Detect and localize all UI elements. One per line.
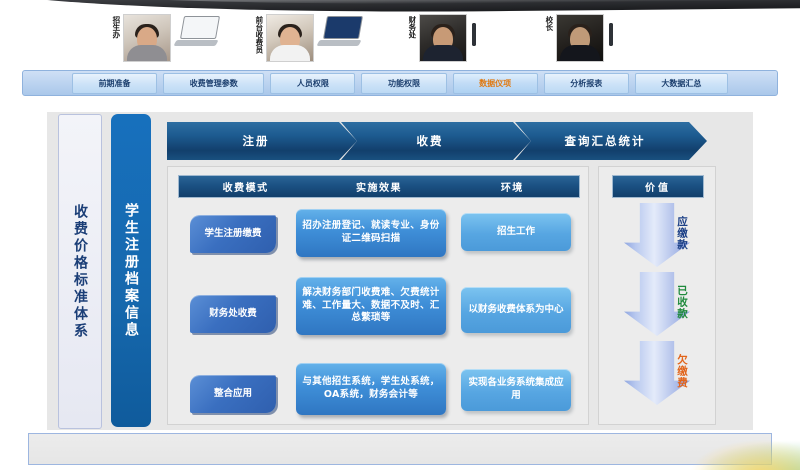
value-arrow-label: 应缴款 <box>624 208 690 258</box>
laptop-base <box>316 40 361 46</box>
laptop-lid <box>180 16 220 39</box>
persona-finance-office: 财务处 <box>408 8 476 64</box>
tablet-icon <box>609 25 613 44</box>
persona-photo <box>419 14 467 62</box>
persona-label: 前台收费员 <box>255 16 263 54</box>
matrix-header-mode: 收费模式 <box>179 179 312 194</box>
tabbar-right-spacer <box>734 74 768 93</box>
tab-preparation[interactable]: 前期准备 <box>72 73 157 94</box>
tablet-body <box>609 23 613 46</box>
matrix-header-environment: 环境 <box>446 179 579 194</box>
matrix-cell-mode[interactable]: 学生注册缴费 <box>190 215 276 253</box>
laptop-icon <box>318 16 360 46</box>
tablet-icon <box>472 25 476 44</box>
value-panel: 价值 应缴款 已收款 欠缴费 <box>598 166 716 425</box>
tab-analysis-reports[interactable]: 分析报表 <box>544 73 629 94</box>
sidebar-student-registration-archive: 学生注册档案信息 <box>111 114 151 427</box>
matrix-cell-environment[interactable]: 以财务收费体系为中心 <box>461 287 571 333</box>
process-step-query-summary[interactable]: 查询汇总统计 <box>515 122 707 160</box>
photo-body <box>127 45 167 61</box>
persona-photo <box>556 14 604 62</box>
tablet-body <box>472 23 476 46</box>
matrix-cell-effect[interactable]: 与其他招生系统，学生处系统，OA系统，财务会计等 <box>296 363 446 415</box>
tab-fee-parameters[interactable]: 收费管理参数 <box>163 73 264 94</box>
matrix-cell-environment[interactable]: 实现各业务系统集成应用 <box>461 369 571 411</box>
persona-principal: 校长 <box>545 8 613 64</box>
matrix-cell-mode[interactable]: 整合应用 <box>190 375 276 413</box>
module-tabbar: 前期准备 收费管理参数 人员权限 功能权限 数据仪项 分析报表 大数据汇总 <box>22 70 778 96</box>
tab-big-data-summary[interactable]: 大数据汇总 <box>635 73 728 94</box>
process-chevron-bar: 注册 收费 查询汇总统计 <box>167 122 712 160</box>
matrix-cell-effect[interactable]: 解决财务部门收费难、欠费统计难、工作量大、数据不及时、汇总繁琐等 <box>296 277 446 335</box>
process-step-label: 收费 <box>417 133 456 149</box>
process-step-register[interactable]: 注册 <box>167 122 357 160</box>
tab-data-dashboard[interactable]: 数据仪项 <box>453 73 538 94</box>
value-arrow-payable[interactable]: 应缴款 <box>624 203 690 267</box>
laptop-lid <box>323 16 363 39</box>
matrix-header-effect: 实施效果 <box>312 179 445 194</box>
photo-body <box>560 45 600 61</box>
matrix-cell-effect[interactable]: 招办注册登记、就读专业、身份证二维码扫描 <box>296 209 446 257</box>
value-arrow-outstanding[interactable]: 欠缴费 <box>624 341 690 405</box>
photo-body <box>423 45 463 61</box>
process-step-charge[interactable]: 收费 <box>341 122 531 160</box>
photo-body <box>270 45 310 61</box>
corner-glow-decoration <box>670 430 800 470</box>
persona-label: 财务处 <box>408 16 416 39</box>
persona-photo <box>266 14 314 62</box>
value-arrow-label: 已收款 <box>624 277 690 327</box>
matrix-header-row: 收费模式 实施效果 环境 <box>178 175 580 198</box>
value-arrow-received[interactable]: 已收款 <box>624 272 690 336</box>
persona-front-desk-cashier: 前台收费员 <box>255 8 360 64</box>
laptop-base <box>173 40 218 46</box>
matrix-cell-environment[interactable]: 招生工作 <box>461 213 571 251</box>
matrix-panel: 收费模式 实施效果 环境 学生注册缴费 招办注册登记、就读专业、身份证二维码扫描… <box>167 166 589 425</box>
tab-personnel-permissions[interactable]: 人员权限 <box>270 73 355 94</box>
matrix-cell-mode[interactable]: 财务处收费 <box>190 295 276 333</box>
value-panel-header: 价值 <box>612 175 704 198</box>
persona-label: 招生办 <box>112 16 120 39</box>
sidebar-inner-label: 学生注册档案信息 <box>123 203 139 339</box>
tab-function-permissions[interactable]: 功能权限 <box>361 73 446 94</box>
tabbar-left-spacer <box>32 74 66 93</box>
sidebar-fee-standard-system: 收费价格标准体系 <box>58 114 102 429</box>
sidebar-outer-label: 收费价格标准体系 <box>72 204 88 340</box>
persona-admissions: 招生办 <box>112 8 217 64</box>
laptop-icon <box>175 16 217 46</box>
value-arrow-label: 欠缴费 <box>624 346 690 396</box>
footer-band <box>28 433 772 465</box>
persona-photo <box>123 14 171 62</box>
process-step-label: 注册 <box>243 133 282 149</box>
process-step-label: 查询汇总统计 <box>565 133 658 149</box>
persona-label: 校长 <box>545 16 553 31</box>
persona-row: 招生办 前台收费员 财务处 <box>0 8 800 66</box>
